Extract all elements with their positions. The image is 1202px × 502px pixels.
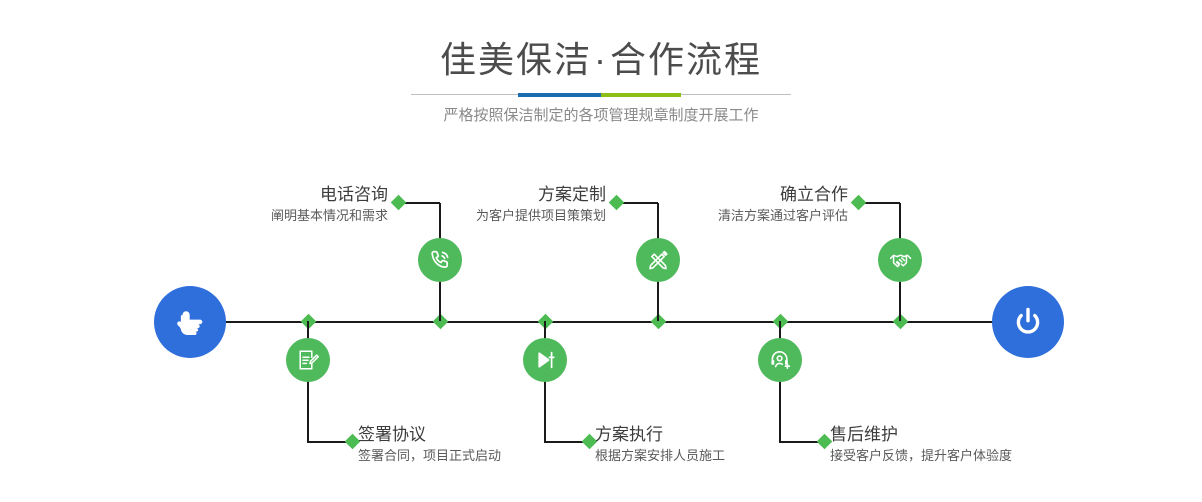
divider-green-segment [601, 93, 681, 97]
process-timeline: 签署协议签署合同，项目正式启动电话咨询阐明基本情况和需求方案执行根据方案安排人员… [0, 150, 1202, 502]
document-edit-icon [296, 348, 320, 372]
timeline-steps: 签署协议签署合同，项目正式启动电话咨询阐明基本情况和需求方案执行根据方案安排人员… [0, 150, 1202, 502]
title-divider [411, 93, 791, 97]
label-marker-diamond [391, 195, 407, 211]
flow-chart-page: 佳美保洁·合作流程 严格按照保洁制定的各项管理规章制度开展工作 [0, 0, 1202, 502]
step-title: 售后维护 [830, 424, 1012, 446]
page-title-left: 佳美保洁 [440, 39, 592, 80]
step-icon-circle[interactable] [878, 238, 922, 282]
step-description: 清洁方案通过客户评估 [718, 206, 848, 226]
step-icon-circle[interactable] [286, 338, 330, 382]
step-description: 为客户提供项目策策划 [476, 206, 606, 226]
step-icon-circle[interactable] [418, 238, 462, 282]
step-title: 签署协议 [358, 424, 501, 446]
step-label: 方案执行根据方案安排人员施工 [595, 424, 725, 466]
handshake-icon [888, 248, 912, 272]
page-subtitle: 严格按照保洁制定的各项管理规章制度开展工作 [0, 105, 1202, 127]
label-marker-diamond [851, 195, 867, 211]
step-title: 方案执行 [595, 424, 725, 446]
page-title: 佳美保洁·合作流程 [0, 38, 1202, 82]
pencil-plan-icon [646, 248, 670, 272]
step-label: 签署协议签署合同，项目正式启动 [358, 424, 501, 466]
step-label: 确立合作清洁方案通过客户评估 [718, 184, 848, 226]
step-description: 签署合同，项目正式启动 [358, 446, 501, 466]
step-title: 电话咨询 [271, 184, 388, 206]
step-label: 电话咨询阐明基本情况和需求 [271, 184, 388, 226]
step-title: 方案定制 [476, 184, 606, 206]
label-marker-diamond [609, 195, 625, 211]
play-execute-icon [533, 348, 557, 372]
page-title-right: 合作流程 [610, 39, 762, 80]
step-description: 接受客户反馈，提升客户体验度 [830, 446, 1012, 466]
step-icon-circle[interactable] [523, 338, 567, 382]
step-label: 方案定制为客户提供项目策策划 [476, 184, 606, 226]
step-description: 阐明基本情况和需求 [271, 206, 388, 226]
step-description: 根据方案安排人员施工 [595, 446, 725, 466]
customer-service-icon [768, 348, 792, 372]
divider-blue-segment [518, 93, 601, 97]
step-icon-circle[interactable] [636, 238, 680, 282]
page-title-separator: · [592, 39, 610, 80]
phone-call-icon [428, 248, 452, 272]
step-label: 售后维护接受客户反馈，提升客户体验度 [830, 424, 1012, 466]
step-icon-circle[interactable] [758, 338, 802, 382]
step-title: 确立合作 [718, 184, 848, 206]
